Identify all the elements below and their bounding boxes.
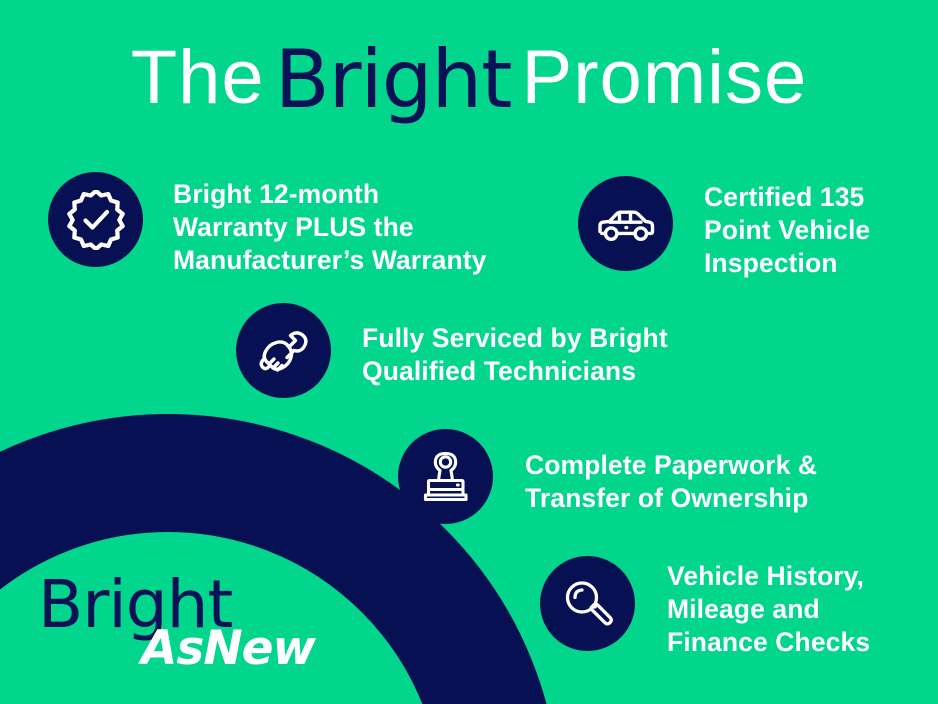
feature-item-history-checks: Vehicle History, Mileage and Finance Che… [540,556,870,659]
feature-item-inspection: Certified 135 Point Vehicle Inspection [578,176,870,280]
feature-icon-badge [236,303,331,398]
feature-text-warranty: Bright 12-month Warranty PLUS the Manufa… [173,172,487,277]
feature-text-servicing: Fully Serviced by Bright Qualified Techn… [362,303,668,388]
feature-item-servicing: Fully Serviced by Bright Qualified Techn… [236,303,668,398]
brand-logo: Bright AsNew [38,572,298,682]
car-icon [595,193,657,255]
verified-badge-icon [66,190,126,250]
page-title: TheBrightPromise [0,36,938,116]
feature-item-paperwork: Complete Paperwork & Transfer of Ownersh… [398,429,817,524]
feature-text-inspection: Certified 135 Point Vehicle Inspection [704,176,870,280]
wrench-hand-icon [254,321,314,381]
magnifying-glass-icon [558,574,618,634]
feature-icon-badge [540,556,635,651]
page-title-prefix: The [131,40,265,116]
feature-icon-badge [398,429,493,524]
feature-item-warranty: Bright 12-month Warranty PLUS the Manufa… [48,172,487,277]
feature-text-history-checks: Vehicle History, Mileage and Finance Che… [667,556,870,659]
brand-logo-secondary: AsNew [141,625,315,672]
promise-poster: TheBrightPromise Bright 12-month Warrant… [0,0,938,704]
feature-text-paperwork: Complete Paperwork & Transfer of Ownersh… [525,429,817,515]
feature-icon-badge [578,176,673,271]
feature-icon-badge [48,172,143,267]
page-title-brand: Bright [275,40,512,120]
rubber-stamp-icon [417,448,475,506]
page-title-suffix: Promise [522,40,808,116]
